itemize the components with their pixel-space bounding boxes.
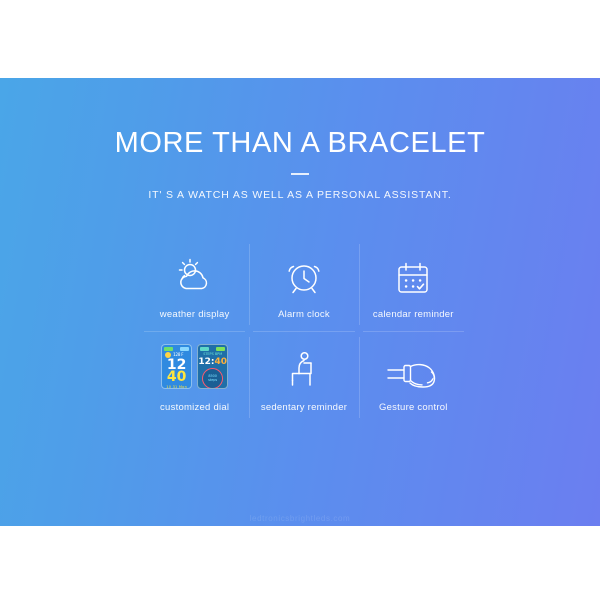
feature-label: calendar reminder bbox=[373, 309, 454, 320]
feature-grid: weather display Alarm clock bbox=[140, 238, 468, 424]
feature-label: customized dial bbox=[160, 402, 229, 413]
dial-preview-teal[interactable]: STEPS BPM 12:40 8500steps bbox=[197, 344, 228, 389]
dial-minute: 40 bbox=[214, 357, 227, 367]
feature-cell-alarm-clock[interactable]: Alarm clock bbox=[249, 238, 358, 331]
feature-cell-gesture-control[interactable]: Gesture control bbox=[359, 331, 468, 424]
page-root: MORE THAN A BRACELET IT' S A WATCH AS WE… bbox=[0, 0, 600, 600]
dial-date: 10 31 Mon bbox=[162, 385, 191, 389]
dial-hour: 12: bbox=[198, 357, 214, 367]
feature-cell-sedentary-reminder[interactable]: sedentary reminder bbox=[249, 331, 358, 424]
feature-cell-customized-dial[interactable]: 128 F 12 40 10 31 Mon STEPS BPM bbox=[140, 331, 249, 424]
feature-label: sedentary reminder bbox=[261, 402, 347, 413]
dial-time: 12:40 bbox=[198, 357, 227, 367]
signal-chip bbox=[216, 347, 225, 351]
page-title: MORE THAN A BRACELET bbox=[0, 128, 600, 160]
title-divider bbox=[291, 173, 309, 175]
step-gauge: 8500steps bbox=[202, 368, 223, 389]
feature-cell-weather-display[interactable]: weather display bbox=[140, 238, 249, 331]
page-subtitle: IT' S A WATCH AS WELL AS A PERSONAL ASSI… bbox=[0, 189, 600, 201]
feature-cell-calendar-reminder[interactable]: calendar reminder bbox=[359, 238, 468, 331]
watermark: ledtronicsbrightleds.com bbox=[0, 514, 600, 523]
gauge-label: 8500steps bbox=[208, 374, 217, 382]
feature-label: Gesture control bbox=[379, 402, 448, 413]
dial-preview-blue[interactable]: 128 F 12 40 10 31 Mon bbox=[161, 344, 192, 389]
feature-label: Alarm clock bbox=[278, 309, 330, 320]
promo-banner: MORE THAN A BRACELET IT' S A WATCH AS WE… bbox=[0, 78, 600, 526]
battery-chip bbox=[200, 347, 209, 351]
dial-preview-group: 128 F 12 40 10 31 Mon STEPS BPM bbox=[161, 344, 228, 389]
sitting-person-icon bbox=[288, 343, 320, 389]
hand-gesture-icon bbox=[385, 343, 441, 389]
watch-dial-icon: 128 F 12 40 10 31 Mon STEPS BPM bbox=[161, 343, 228, 389]
weather-icon bbox=[173, 250, 217, 296]
feature-label: weather display bbox=[160, 309, 230, 320]
alarm-clock-icon bbox=[285, 250, 323, 296]
dial-status-bar bbox=[198, 345, 227, 351]
battery-chip bbox=[164, 347, 173, 351]
dial-status-text: STEPS BPM bbox=[198, 352, 227, 356]
signal-chip bbox=[180, 347, 189, 351]
calendar-icon bbox=[395, 250, 431, 296]
dial-minute: 40 bbox=[162, 371, 191, 384]
heading-block: MORE THAN A BRACELET IT' S A WATCH AS WE… bbox=[0, 128, 600, 201]
